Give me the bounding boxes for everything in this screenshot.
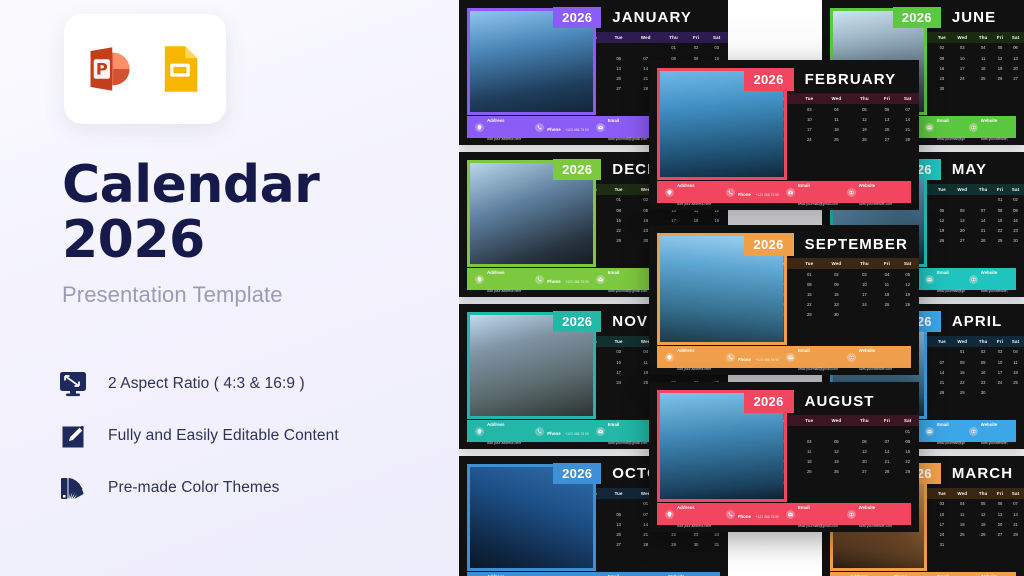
calendar-day-cell: 24	[797, 135, 822, 145]
calendar-day-cell: 24	[933, 529, 951, 539]
weekday-header: Thu	[973, 336, 993, 347]
calendar-year-chip: 2026	[553, 7, 601, 28]
footer-contact-item: Email www.yourmail@gmail.com	[925, 261, 965, 297]
calendar-day-cell: 12	[896, 279, 919, 289]
calendar-day-cell	[933, 195, 951, 205]
footer-contact-item: Address Add your address here	[475, 413, 531, 449]
title-block: Calendar 2026 Presentation Template	[62, 158, 442, 308]
calendar-day-cell: 16	[973, 367, 993, 377]
footer-contact-item: Website www.yourwebsite.com	[847, 496, 904, 532]
calendar-day-cell: 01	[993, 195, 1007, 205]
weekday-header: Tue	[933, 488, 951, 499]
globe-icon	[847, 510, 856, 519]
calendar-month-name: JUNE	[952, 9, 996, 26]
calendar-day-cell: 02	[973, 347, 993, 357]
footer-contact-value: www.yourwebsite.com	[981, 137, 1009, 141]
calendar-day-cell: 13	[606, 519, 630, 529]
footer-contact-value: www.yourmail@gmail.com	[608, 441, 648, 445]
calendar-day-cell	[878, 310, 897, 320]
footer-contact-value: +123 456 78 90	[565, 128, 589, 132]
feature-label: 2 Aspect Ratio ( 4:3 & 16:9 )	[108, 375, 305, 393]
feature-label: Pre-made Color Themes	[108, 479, 280, 497]
calendar-day-cell: 24	[951, 73, 973, 83]
calendar-day-cell: 20	[606, 73, 630, 83]
calendar-day-cell: 19	[973, 519, 993, 529]
calendar-day-cell: 27	[851, 467, 877, 477]
calendar-day-cell: 12	[933, 215, 951, 225]
calendar-day-cell: 13	[951, 215, 973, 225]
weekday-header: Sat	[1007, 184, 1024, 195]
page-title: Calendar 2026	[62, 158, 442, 268]
footer-contact-label: Website	[981, 422, 998, 427]
calendar-day-cell: 26	[851, 135, 877, 145]
weekday-header: Wed	[951, 32, 973, 43]
weekday-header: Tue	[933, 336, 951, 347]
phone-icon	[535, 275, 544, 284]
calendar-day-cell: 22	[606, 225, 630, 235]
calendar-day-cell: 15	[606, 215, 630, 225]
calendar-day-cell: 03	[951, 43, 973, 53]
footer-contact-value: Add your address here	[487, 441, 521, 445]
calendar-day-cell	[896, 310, 919, 320]
footer-contact-value: +123 456 78 90	[755, 515, 779, 519]
footer-contact-value: www.yourmail@gmail.com	[937, 137, 965, 141]
footer-contact-label: Phone	[547, 127, 560, 132]
weekday-header: Tue	[797, 258, 822, 269]
globe-icon	[969, 427, 978, 436]
calendar-day-cell: 11	[973, 53, 993, 63]
footer-contact-item: Email www.yourmail@gmail.com	[596, 413, 652, 449]
weekday-header: Sat	[1007, 32, 1024, 43]
calendar-day-cell: 11	[822, 114, 852, 124]
footer-contact-value: www.yourmail@gmail.com	[937, 441, 965, 445]
calendar-day-cell	[797, 477, 822, 487]
calendar-day-cell	[1007, 84, 1024, 94]
footer-contact-label: Email	[608, 422, 620, 427]
calendar-day-cell: 23	[933, 73, 951, 83]
calendar-day-cell: 27	[606, 540, 630, 550]
calendar-day-cell: 04	[822, 104, 852, 114]
aspect-ratio-monitor-icon	[58, 369, 88, 399]
calendar-day-cell	[878, 426, 897, 436]
edit-pencil-icon	[58, 421, 88, 451]
footer-contact-value: Add your address here	[677, 202, 711, 206]
calendar-day-cell: 28	[631, 540, 661, 550]
color-swatch-fan-icon	[58, 473, 88, 503]
calendar-day-cell: 20	[951, 225, 973, 235]
calendar-day-cell: 12	[973, 509, 993, 519]
calendar-day-cell: 30	[973, 388, 993, 398]
calendar-preview-card-september[interactable]: 2026 SEPTEMBER SunMonTueWedThuFriSat0102…	[649, 225, 919, 375]
footer-contact-item: Email www.yourmail@gmail.com	[596, 109, 652, 145]
phone-icon	[535, 123, 544, 132]
footer-contact-item: Email www.yourmail@gmail.com	[925, 109, 965, 145]
feature-item-editable: Fully and Easily Editable Content	[58, 410, 448, 462]
calendar-day-cell: 11	[1007, 357, 1024, 367]
feature-list: 2 Aspect Ratio ( 4:3 & 16:9 ) Fully and …	[58, 358, 448, 514]
calendar-day-cell: 29	[993, 236, 1007, 246]
calendar-day-cell: 27	[878, 135, 897, 145]
email-icon	[925, 123, 934, 132]
calendar-day-cell: 17	[933, 519, 951, 529]
footer-contact-label: Email	[608, 118, 620, 123]
weekday-header: Fri	[993, 336, 1007, 347]
calendar-day-cell: 11	[951, 509, 973, 519]
calendar-card-header: 2026 JUNE	[893, 7, 997, 28]
calendar-day-cell: 31	[705, 540, 728, 550]
calendar-day-cell: 18	[687, 215, 706, 225]
weekday-header: Wed	[822, 415, 852, 426]
calendar-preview-card-february[interactable]: 2026 FEBRUARY SunMonTueWedThuFriSat01020…	[649, 60, 919, 210]
footer-contact-label: Website	[981, 270, 998, 275]
footer-contact-item: Website www.yourwebsite.com	[656, 565, 712, 576]
template-preview-showcase: 2026 JANUARY SunMonTueWedThuFriSat010203…	[459, 0, 1024, 576]
footer-contact-label: Website	[981, 118, 998, 123]
calendar-day-cell	[631, 43, 661, 53]
calendar-day-cell	[606, 43, 630, 53]
calendar-day-cell: 01	[951, 347, 973, 357]
footer-contact-label: Phone	[738, 514, 751, 519]
footer-contact-label: Website	[859, 348, 876, 353]
calendar-day-cell: 26	[822, 467, 852, 477]
calendar-day-cell: 14	[973, 215, 993, 225]
footer-contact-item: Website www.yourwebsite.com	[969, 261, 1009, 297]
footer-contact-label: Email	[937, 422, 949, 427]
calendar-day-cell	[896, 477, 919, 487]
calendar-day-cell: 18	[878, 289, 897, 299]
footer-contact-item: Website www.yourwebsite.com	[969, 413, 1009, 449]
calendar-day-cell: 09	[973, 357, 993, 367]
calendar-day-cell: 02	[822, 269, 852, 279]
calendar-day-cell: 10	[606, 357, 630, 367]
calendar-year-chip: 2026	[553, 311, 601, 332]
calendar-day-cell: 25	[822, 135, 852, 145]
weekday-header: Thu	[851, 93, 877, 104]
calendar-day-cell: 19	[933, 225, 951, 235]
calendar-day-cell	[973, 84, 993, 94]
calendar-day-cell: 30	[1007, 236, 1024, 246]
calendar-month-name: MAY	[952, 161, 987, 178]
calendar-day-cell: 24	[993, 377, 1007, 387]
location-pin-icon	[665, 188, 674, 197]
calendar-day-cell: 10	[933, 509, 951, 519]
footer-contact-label: Address	[487, 422, 505, 427]
footer-contact-value: Add your address here	[487, 289, 521, 293]
footer-contact-value: Add your address here	[677, 524, 711, 528]
calendar-day-cell: 25	[878, 300, 897, 310]
calendar-day-cell: 26	[993, 73, 1007, 83]
calendar-day-cell: 19	[851, 124, 877, 134]
calendar-day-cell: 16	[631, 215, 661, 225]
calendar-month-name: JANUARY	[612, 9, 692, 26]
weekday-header: Wed	[951, 184, 973, 195]
calendar-day-cell: 08	[951, 357, 973, 367]
calendar-month-name: AUGUST	[805, 393, 875, 410]
calendar-day-cell: 03	[797, 104, 822, 114]
calendar-day-cell	[606, 388, 630, 398]
calendar-day-cell: 19	[896, 289, 919, 299]
weekday-header: Fri	[878, 415, 897, 426]
calendar-day-cell: 13	[851, 446, 877, 456]
calendar-card-header: 2026 FEBRUARY	[744, 68, 897, 91]
calendar-day-cell: 18	[951, 519, 973, 529]
calendar-day-cell: 27	[1007, 73, 1024, 83]
weekday-header: Fri	[878, 93, 897, 104]
calendar-day-cell: 06	[606, 53, 630, 63]
calendar-day-cell: 22	[951, 377, 973, 387]
calendar-day-cell: 15	[951, 367, 973, 377]
globe-icon	[847, 353, 856, 362]
calendar-day-cell: 06	[1007, 43, 1024, 53]
calendar-day-cell: 30	[933, 84, 951, 94]
calendar-day-cell: 02	[687, 43, 706, 53]
calendar-day-cell: 10	[951, 53, 973, 63]
footer-contact-item: Phone +123 456 78 90	[882, 565, 922, 576]
weekday-header: Wed	[631, 32, 661, 43]
footer-contact-value: www.yourmail@gmail.com	[798, 202, 838, 206]
calendar-day-cell: 06	[993, 499, 1007, 509]
footer-contact-item: Email www.yourmail@gmail.com	[925, 565, 965, 576]
calendar-day-cell: 05	[933, 205, 951, 215]
footer-contact-label: Email	[937, 118, 949, 123]
calendar-day-cell: 28	[933, 388, 951, 398]
google-slides-icon	[154, 43, 206, 95]
calendar-day-cell: 04	[1007, 347, 1024, 357]
calendar-day-cell: 13	[878, 114, 897, 124]
footer-contact-value: +123 456 78 90	[755, 193, 779, 197]
calendar-day-cell: 20	[851, 457, 877, 467]
footer-contact-item: Phone +123 456 78 90	[535, 270, 591, 288]
footer-contact-value: www.yourmail@gmail.com	[798, 524, 838, 528]
footer-contact-item: Email www.yourmail@gmail.com	[786, 496, 843, 532]
footer-contact-label: Address	[487, 270, 505, 275]
calendar-day-cell: 08	[993, 205, 1007, 215]
calendar-day-cell: 17	[951, 63, 973, 73]
calendar-day-cell: 18	[973, 63, 993, 73]
calendar-day-cell: 29	[951, 388, 973, 398]
calendar-day-cell: 05	[993, 43, 1007, 53]
calendar-day-cell	[851, 426, 877, 436]
calendar-day-cell	[851, 477, 877, 487]
footer-contact-item: Address Add your address here	[665, 496, 722, 532]
calendar-footer-bar: Address Add your address here Phone +123…	[467, 572, 720, 576]
weekday-header: Sat	[705, 32, 728, 43]
calendar-day-cell: 18	[797, 457, 822, 467]
footer-contact-item: Phone +123 456 78 90	[726, 348, 783, 366]
footer-contact-item: Website www.yourwebsite.com	[969, 565, 1009, 576]
calendar-day-cell: 30	[822, 310, 852, 320]
email-icon	[596, 123, 605, 132]
calendar-day-cell: 12	[822, 446, 852, 456]
calendar-day-cell: 13	[993, 509, 1007, 519]
footer-contact-item: Email www.yourmail@gmail.com	[786, 339, 843, 375]
footer-contact-label: Phone	[547, 279, 560, 284]
calendar-day-cell	[878, 477, 897, 487]
footer-contact-item: Phone +123 456 78 90	[726, 505, 783, 523]
footer-contact-label: Email	[937, 270, 949, 275]
weekday-header: Sat	[1007, 488, 1024, 499]
calendar-day-cell: 14	[878, 446, 897, 456]
weekday-header: Wed	[951, 336, 973, 347]
weekday-header: Fri	[993, 184, 1007, 195]
calendar-day-cell: 04	[797, 436, 822, 446]
footer-contact-label: Email	[608, 270, 620, 275]
calendar-month-name: FEBRUARY	[805, 71, 897, 88]
footer-contact-item: Email www.yourmail@gmail.com	[786, 174, 843, 210]
footer-contact-item: Website www.yourwebsite.com	[969, 109, 1009, 145]
calendar-day-cell: 09	[822, 279, 852, 289]
calendar-day-cell: 02	[1007, 195, 1024, 205]
weekday-header: Tue	[606, 336, 630, 347]
calendar-day-cell: 27	[993, 529, 1007, 539]
weekday-header: Tue	[797, 415, 822, 426]
weekday-header: Tue	[606, 488, 630, 499]
location-pin-icon	[665, 353, 674, 362]
calendar-day-cell	[951, 540, 973, 550]
calendar-day-cell	[822, 426, 852, 436]
calendar-day-cell: 17	[851, 289, 877, 299]
feature-item-aspect-ratio: 2 Aspect Ratio ( 4:3 & 16:9 )	[58, 358, 448, 410]
globe-icon	[969, 123, 978, 132]
email-icon	[925, 275, 934, 284]
phone-icon	[726, 353, 735, 362]
calendar-footer-bar: Address Add your address here Phone +123…	[657, 346, 911, 368]
email-icon	[786, 510, 795, 519]
page-subtitle: Presentation Template	[62, 282, 442, 308]
calendar-day-cell: 22	[896, 457, 919, 467]
calendar-day-cell: 07	[973, 205, 993, 215]
location-pin-icon	[475, 275, 484, 284]
calendar-day-cell: 17	[661, 215, 687, 225]
calendar-year-chip: 2026	[744, 233, 794, 256]
calendar-day-cell	[951, 84, 973, 94]
calendar-day-cell: 01	[606, 195, 630, 205]
calendar-year-chip: 2026	[553, 159, 601, 180]
calendar-day-cell	[797, 426, 822, 436]
calendar-day-cell: 09	[933, 53, 951, 63]
calendar-day-cell: 03	[851, 269, 877, 279]
weekday-header: Thu	[851, 415, 877, 426]
weekday-header: Thu	[973, 32, 993, 43]
calendar-day-cell: 21	[1007, 519, 1024, 529]
calendar-day-cell: 05	[973, 499, 993, 509]
footer-contact-label: Email	[798, 348, 810, 353]
calendar-day-cell: 25	[973, 73, 993, 83]
calendar-day-cell: 29	[896, 467, 919, 477]
footer-contact-item: Address Add your address here	[665, 339, 722, 375]
footer-contact-item: Website www.yourwebsite.com	[847, 339, 904, 375]
weekday-header: Wed	[822, 93, 852, 104]
calendar-day-cell: 10	[851, 279, 877, 289]
calendar-day-cell: 28	[896, 135, 919, 145]
footer-contact-value: +123 456 78 90	[565, 432, 589, 436]
footer-contact-label: Email	[798, 505, 810, 510]
calendar-day-cell: 12	[993, 53, 1007, 63]
calendar-day-cell: 15	[896, 446, 919, 456]
calendar-preview-card-august[interactable]: 2026 AUGUST SunMonTueWedThuFriSat0102030…	[649, 382, 919, 532]
calendar-day-cell: 24	[851, 300, 877, 310]
calendar-day-cell: 06	[851, 436, 877, 446]
footer-contact-item: Address Add your address here	[838, 565, 878, 576]
calendar-day-cell: 27	[606, 84, 630, 94]
calendar-day-cell: 04	[951, 499, 973, 509]
calendar-day-cell: 02	[933, 43, 951, 53]
calendar-year-chip: 2026	[744, 390, 794, 413]
calendar-day-cell: 21	[933, 377, 951, 387]
calendar-day-cell: 05	[851, 104, 877, 114]
calendar-day-cell	[993, 84, 1007, 94]
calendar-day-cell: 29	[661, 540, 687, 550]
calendar-day-cell: 18	[822, 124, 852, 134]
calendar-day-cell: 19	[822, 457, 852, 467]
calendar-day-cell: 20	[878, 124, 897, 134]
calendar-day-cell: 15	[993, 215, 1007, 225]
footer-contact-label: Phone	[738, 192, 751, 197]
calendar-month-name: APRIL	[952, 313, 1003, 330]
location-pin-icon	[475, 123, 484, 132]
calendar-card-header: 2026 AUGUST	[744, 390, 875, 413]
feature-item-color-themes: Pre-made Color Themes	[58, 462, 448, 514]
footer-contact-label: Website	[859, 505, 876, 510]
calendar-day-cell: 22	[993, 225, 1007, 235]
calendar-day-cell: 05	[822, 436, 852, 446]
calendar-card-header: 2026 JANUARY	[553, 7, 692, 28]
footer-contact-value: www.yourwebsite.com	[859, 202, 893, 206]
footer-contact-item: Email www.yourmail@gmail.com	[925, 413, 965, 449]
calendar-day-cell: 01	[896, 426, 919, 436]
weekday-header: Thu	[973, 184, 993, 195]
calendar-day-cell: 18	[1007, 367, 1024, 377]
footer-contact-item: Address Add your address here	[665, 174, 722, 210]
calendar-year-chip: 2026	[893, 7, 941, 28]
calendar-day-cell: 26	[896, 300, 919, 310]
calendar-day-cell: 01	[661, 43, 687, 53]
calendar-day-cell: 13	[1007, 53, 1024, 63]
footer-contact-item: Address Add your address here	[475, 565, 531, 576]
weekday-header: Tue	[797, 93, 822, 104]
calendar-year-chip: 2026	[744, 68, 794, 91]
calendar-day-cell: 03	[993, 347, 1007, 357]
footer-contact-value: +123 456 78 90	[755, 358, 779, 362]
footer-contact-label: Phone	[738, 357, 751, 362]
calendar-month-name: MARCH	[952, 465, 1013, 482]
calendar-day-cell	[1007, 388, 1024, 398]
phone-icon	[726, 188, 735, 197]
powerpoint-icon: P	[84, 43, 136, 95]
calendar-day-cell: 10	[993, 357, 1007, 367]
calendar-day-cell: 23	[973, 377, 993, 387]
footer-contact-value: +123 456 78 90	[565, 280, 589, 284]
calendar-day-cell: 03	[933, 499, 951, 509]
calendar-day-cell: 08	[896, 436, 919, 446]
calendar-day-cell	[993, 540, 1007, 550]
feature-label: Fully and Easily Editable Content	[108, 427, 339, 445]
calendar-day-cell: 07	[933, 357, 951, 367]
calendar-footer-bar: Address Add your address here Phone +123…	[830, 572, 1016, 576]
weekday-header: Wed	[951, 488, 973, 499]
email-icon	[925, 427, 934, 436]
footer-contact-value: Add your address here	[487, 137, 521, 141]
footer-contact-item: Address Add your address here	[475, 261, 531, 297]
calendar-day-cell: 17	[606, 367, 630, 377]
location-pin-icon	[475, 427, 484, 436]
weekday-header: Fri	[993, 488, 1007, 499]
calendar-day-cell	[951, 195, 973, 205]
footer-contact-label: Phone	[547, 431, 560, 436]
footer-contact-label: Website	[859, 183, 876, 188]
calendar-day-cell: 19	[705, 215, 728, 225]
calendar-day-cell	[973, 195, 993, 205]
